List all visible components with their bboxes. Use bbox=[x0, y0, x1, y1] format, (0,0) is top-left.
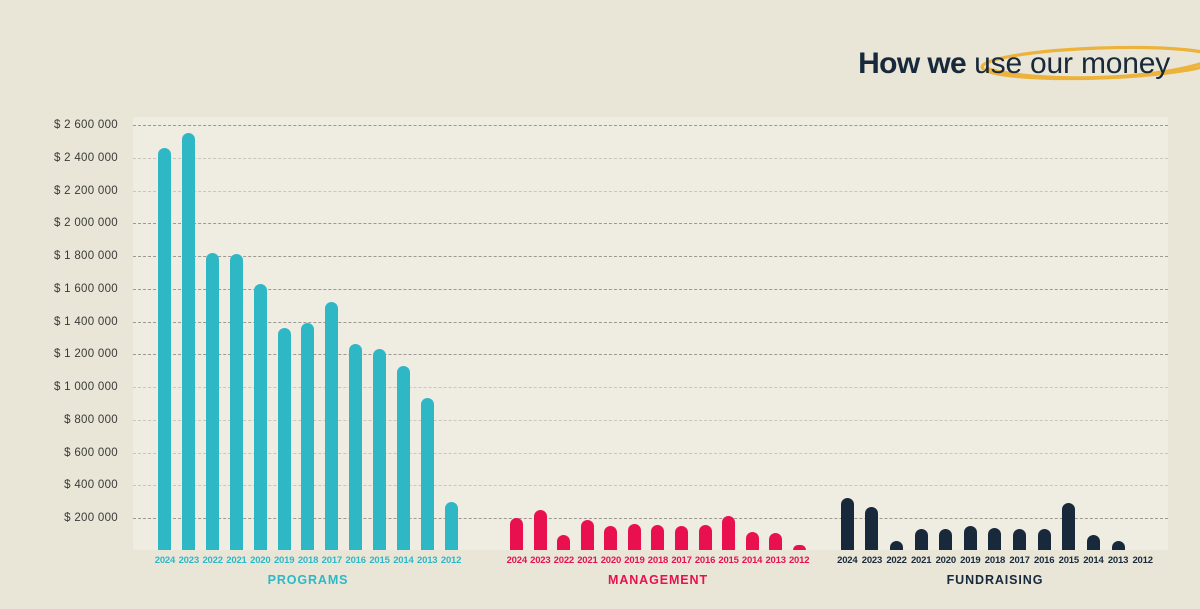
bar-programs-2016[interactable] bbox=[349, 344, 362, 550]
page-title: How we use our money bbox=[858, 40, 1170, 88]
bar-slot[interactable] bbox=[1032, 117, 1057, 550]
bar-management-2020[interactable] bbox=[604, 526, 617, 550]
bar-fundraising-2021[interactable] bbox=[915, 529, 928, 550]
x-axis-label-2020: 2020 bbox=[599, 550, 623, 566]
x-axis-label-2019: 2019 bbox=[272, 550, 296, 566]
title-bold-text: How we bbox=[858, 47, 966, 81]
bar-slot[interactable] bbox=[740, 117, 764, 550]
x-axis-label-2024: 2024 bbox=[153, 550, 177, 566]
year-label-row: 2024202320222021202020192018201720162015… bbox=[153, 550, 463, 566]
x-axis-label-2013: 2013 bbox=[1106, 550, 1131, 566]
x-axis-label-2018: 2018 bbox=[983, 550, 1008, 566]
y-axis-label: $ 1 800 000 bbox=[54, 250, 118, 262]
bar-programs-2024[interactable] bbox=[158, 148, 171, 550]
bar-slot[interactable] bbox=[153, 117, 177, 550]
bar-programs-2017[interactable] bbox=[325, 302, 338, 550]
bar-slot[interactable] bbox=[439, 117, 463, 550]
bar-slot[interactable] bbox=[576, 117, 600, 550]
year-label-row: 2024202320222021202020192018201720162015… bbox=[505, 550, 811, 566]
chart-group-fundraising: 2024202320222021202020192018201720162015… bbox=[835, 117, 1155, 550]
bar-slot[interactable] bbox=[177, 117, 201, 550]
bar-management-2018[interactable] bbox=[651, 525, 664, 550]
bar-slot[interactable] bbox=[884, 117, 909, 550]
bar-slot[interactable] bbox=[344, 117, 368, 550]
bar-container bbox=[835, 117, 1155, 550]
x-axis-label-2021: 2021 bbox=[576, 550, 600, 566]
bar-container bbox=[153, 117, 463, 550]
x-axis-label-2021: 2021 bbox=[909, 550, 934, 566]
bar-slot[interactable] bbox=[958, 117, 983, 550]
bar-slot[interactable] bbox=[1056, 117, 1081, 550]
bar-programs-2023[interactable] bbox=[182, 133, 195, 550]
group-title-management: MANAGEMENT bbox=[505, 573, 811, 587]
y-axis-label: $ 1 200 000 bbox=[54, 348, 118, 360]
bar-programs-2021[interactable] bbox=[230, 254, 243, 550]
bar-fundraising-2022[interactable] bbox=[890, 541, 903, 550]
bar-management-2024[interactable] bbox=[510, 518, 523, 550]
title-light-text: use our money bbox=[974, 47, 1170, 81]
bar-slot[interactable] bbox=[1106, 117, 1131, 550]
bar-slot[interactable] bbox=[860, 117, 885, 550]
bar-programs-2019[interactable] bbox=[278, 328, 291, 550]
bar-slot[interactable] bbox=[693, 117, 717, 550]
bar-slot[interactable] bbox=[599, 117, 623, 550]
bar-slot[interactable] bbox=[415, 117, 439, 550]
bar-fundraising-2017[interactable] bbox=[1013, 529, 1026, 550]
bar-management-2019[interactable] bbox=[628, 524, 641, 550]
y-axis-label: $ 2 600 000 bbox=[54, 119, 118, 131]
bar-management-2022[interactable] bbox=[557, 535, 570, 550]
bar-slot[interactable] bbox=[201, 117, 225, 550]
bar-management-2016[interactable] bbox=[699, 525, 712, 550]
bar-slot[interactable] bbox=[248, 117, 272, 550]
bar-slot[interactable] bbox=[552, 117, 576, 550]
bar-programs-2014[interactable] bbox=[397, 366, 410, 550]
bar-slot[interactable] bbox=[909, 117, 934, 550]
x-axis-label-2023: 2023 bbox=[529, 550, 553, 566]
bar-fundraising-2014[interactable] bbox=[1087, 535, 1100, 550]
bar-programs-2022[interactable] bbox=[206, 253, 219, 550]
x-axis-label-2019: 2019 bbox=[958, 550, 983, 566]
x-axis-label-2024: 2024 bbox=[835, 550, 860, 566]
x-axis-label-2012: 2012 bbox=[1130, 550, 1155, 566]
bar-programs-2015[interactable] bbox=[373, 349, 386, 550]
bar-fundraising-2018[interactable] bbox=[988, 528, 1001, 550]
x-axis-label-2019: 2019 bbox=[623, 550, 647, 566]
bar-slot[interactable] bbox=[1007, 117, 1032, 550]
y-axis-label: $ 400 000 bbox=[64, 479, 118, 491]
x-axis-label-2013: 2013 bbox=[764, 550, 788, 566]
bar-fundraising-2013[interactable] bbox=[1112, 541, 1125, 550]
group-title-programs: PROGRAMS bbox=[153, 573, 463, 587]
x-axis-label-2023: 2023 bbox=[177, 550, 201, 566]
bar-slot[interactable] bbox=[623, 117, 647, 550]
x-axis-label-2017: 2017 bbox=[1007, 550, 1032, 566]
bar-slot[interactable] bbox=[787, 117, 811, 550]
bar-slot[interactable] bbox=[368, 117, 392, 550]
bar-management-2023[interactable] bbox=[534, 510, 547, 551]
x-axis-label-2015: 2015 bbox=[1056, 550, 1081, 566]
x-axis-label-2020: 2020 bbox=[248, 550, 272, 566]
bar-slot[interactable] bbox=[646, 117, 670, 550]
x-axis-label-2022: 2022 bbox=[201, 550, 225, 566]
x-axis-label-2016: 2016 bbox=[1032, 550, 1057, 566]
x-axis-label-2022: 2022 bbox=[884, 550, 909, 566]
x-axis-label-2015: 2015 bbox=[717, 550, 741, 566]
bar-fundraising-2020[interactable] bbox=[939, 529, 952, 550]
x-axis-label-2014: 2014 bbox=[1081, 550, 1106, 566]
bar-slot[interactable] bbox=[764, 117, 788, 550]
x-axis-label-2018: 2018 bbox=[296, 550, 320, 566]
x-axis-label-2021: 2021 bbox=[225, 550, 249, 566]
bar-fundraising-2024[interactable] bbox=[841, 498, 854, 550]
y-axis-label: $ 2 000 000 bbox=[54, 217, 118, 229]
x-axis-label-2023: 2023 bbox=[860, 550, 885, 566]
bar-fundraising-2023[interactable] bbox=[865, 507, 878, 550]
bar-management-2021[interactable] bbox=[581, 520, 594, 550]
bar-slot[interactable] bbox=[717, 117, 741, 550]
bar-slot[interactable] bbox=[1081, 117, 1106, 550]
plot-area: 2024202320222021202020192018201720162015… bbox=[133, 117, 1168, 550]
x-axis-label-2012: 2012 bbox=[787, 550, 811, 566]
bar-slot[interactable] bbox=[391, 117, 415, 550]
bar-slot[interactable] bbox=[505, 117, 529, 550]
bar-slot[interactable] bbox=[670, 117, 694, 550]
chart-page: How we use our money $ 2 600 000$ 2 400 … bbox=[0, 0, 1200, 609]
x-axis-label-2015: 2015 bbox=[368, 550, 392, 566]
group-title-fundraising: FUNDRAISING bbox=[835, 573, 1155, 587]
x-axis-label-2014: 2014 bbox=[391, 550, 415, 566]
y-axis-label: $ 1 600 000 bbox=[54, 283, 118, 295]
x-axis-label-2012: 2012 bbox=[439, 550, 463, 566]
y-axis-label: $ 2 200 000 bbox=[54, 185, 118, 197]
x-axis-label-2017: 2017 bbox=[320, 550, 344, 566]
x-axis-label-2016: 2016 bbox=[693, 550, 717, 566]
bar-slot[interactable] bbox=[1130, 117, 1155, 550]
bar-programs-2020[interactable] bbox=[254, 284, 267, 550]
bar-fundraising-2019[interactable] bbox=[964, 526, 977, 550]
bar-slot[interactable] bbox=[296, 117, 320, 550]
x-axis-label-2018: 2018 bbox=[646, 550, 670, 566]
y-axis-label: $ 1 000 000 bbox=[54, 381, 118, 393]
x-axis-label-2013: 2013 bbox=[415, 550, 439, 566]
bar-management-2015[interactable] bbox=[722, 516, 735, 550]
bar-slot[interactable] bbox=[320, 117, 344, 550]
y-axis-label: $ 600 000 bbox=[64, 447, 118, 459]
chart-group-programs: 2024202320222021202020192018201720162015… bbox=[153, 117, 463, 550]
x-axis-label-2020: 2020 bbox=[933, 550, 958, 566]
y-axis-label: $ 800 000 bbox=[64, 414, 118, 426]
year-label-row: 2024202320222021202020192018201720162015… bbox=[835, 550, 1155, 566]
x-axis-label-2022: 2022 bbox=[552, 550, 576, 566]
bar-slot[interactable] bbox=[835, 117, 860, 550]
bar-management-2014[interactable] bbox=[746, 532, 759, 550]
bar-slot[interactable] bbox=[272, 117, 296, 550]
x-axis-label-2017: 2017 bbox=[670, 550, 694, 566]
x-axis-label-2014: 2014 bbox=[740, 550, 764, 566]
bar-slot[interactable] bbox=[933, 117, 958, 550]
x-axis-label-2016: 2016 bbox=[344, 550, 368, 566]
y-axis-label: $ 1 400 000 bbox=[54, 316, 118, 328]
y-axis-label: $ 2 400 000 bbox=[54, 152, 118, 164]
bar-programs-2013[interactable] bbox=[421, 398, 434, 550]
chart-group-management: 2024202320222021202020192018201720162015… bbox=[505, 117, 811, 550]
bar-slot[interactable] bbox=[225, 117, 249, 550]
bar-programs-2018[interactable] bbox=[301, 323, 314, 550]
bar-slot[interactable] bbox=[983, 117, 1008, 550]
bar-container bbox=[505, 117, 811, 550]
y-axis-label: $ 200 000 bbox=[64, 512, 118, 524]
bar-fundraising-2015[interactable] bbox=[1062, 503, 1075, 550]
bar-fundraising-2016[interactable] bbox=[1038, 529, 1051, 550]
bar-management-2017[interactable] bbox=[675, 526, 688, 550]
x-axis-label-2024: 2024 bbox=[505, 550, 529, 566]
bar-management-2013[interactable] bbox=[769, 533, 782, 550]
y-axis: $ 2 600 000$ 2 400 000$ 2 200 000$ 2 000… bbox=[0, 117, 128, 550]
bar-slot[interactable] bbox=[529, 117, 553, 550]
bar-programs-2012[interactable] bbox=[445, 502, 458, 550]
